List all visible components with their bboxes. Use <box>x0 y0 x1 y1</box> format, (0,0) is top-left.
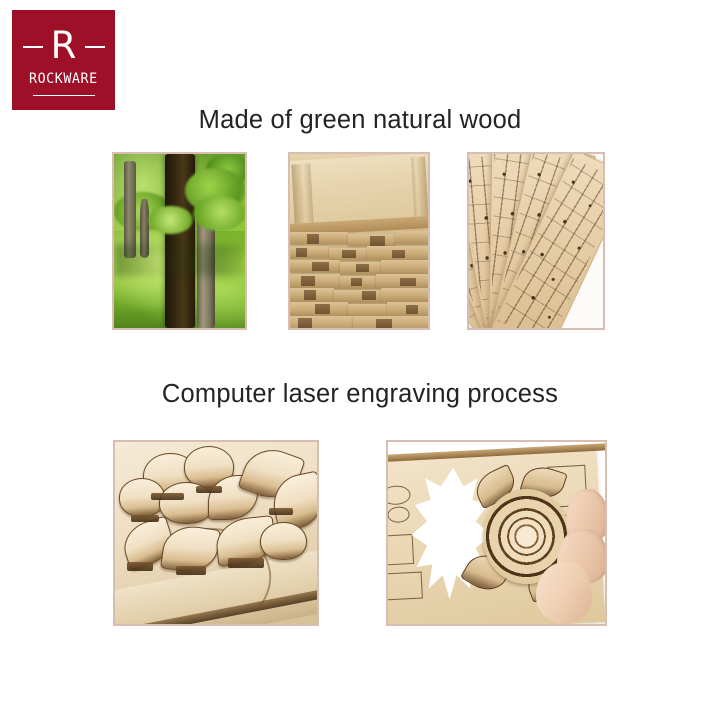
ornament-char-edge <box>269 508 293 515</box>
lumber-plank <box>290 274 340 288</box>
forest-ground-shadow <box>114 244 245 275</box>
lumber-plank-shadow <box>304 290 316 300</box>
ornament-char-edge <box>151 493 183 500</box>
lumber-plank-shadow <box>400 278 415 287</box>
lumber-plank <box>348 304 387 316</box>
lumber-plank-shadow <box>356 264 368 273</box>
photo-hand-content <box>388 442 605 624</box>
lumber-plank <box>395 231 428 245</box>
thumb <box>536 562 592 624</box>
lumber-plank-shadow <box>362 291 376 300</box>
lumber-plank <box>381 288 428 302</box>
rockware-logo: R ROCKWARE <box>12 10 115 110</box>
lumber-plank-shadow <box>342 250 356 259</box>
ornament-char-edge <box>127 562 153 571</box>
lumber-groove <box>291 164 314 224</box>
lumber-plank-shadow <box>406 305 418 314</box>
lumber-plank-shadow <box>298 318 312 328</box>
photo-hand-holding-sheet <box>386 440 607 626</box>
lumber-plank-shadow <box>392 250 404 259</box>
photo-forest-content <box>114 154 245 328</box>
ornament-char-edge <box>196 486 222 493</box>
ornament-char-edge <box>131 515 159 522</box>
logo-rule-left <box>23 46 43 48</box>
engraved-outline <box>388 485 411 506</box>
logo-underline <box>33 95 95 97</box>
logo-letter: R <box>45 27 83 64</box>
lumber-plank-shadow <box>301 276 315 286</box>
ornament-char-edge <box>228 558 264 567</box>
lumber-plank <box>381 260 428 274</box>
photo-forest <box>112 152 247 330</box>
photo-ornament-content <box>115 442 317 624</box>
photo-lumber-content <box>290 154 428 328</box>
lumber-plank-shadow <box>370 236 385 246</box>
engraved-outline <box>388 572 423 600</box>
photo-laser-cut-sheets <box>467 152 605 330</box>
photo-ornament-closeup <box>113 440 319 626</box>
lumber-plank-shadow <box>307 234 319 244</box>
logo-wordmark: ROCKWARE <box>29 71 98 87</box>
product-infographic-page: R ROCKWARE Made of green natural wood <box>0 0 720 720</box>
photo-sheets-content <box>469 154 603 328</box>
forest-foliage <box>148 206 193 234</box>
logo-rule-right <box>85 46 105 48</box>
lumber-plank <box>290 232 348 244</box>
lumber-plank-shadow <box>376 319 393 328</box>
engraved-outline <box>388 534 414 566</box>
section-heading-laser-engraving: Computer laser engraving process <box>0 380 720 409</box>
lumber-plank-shadow <box>312 262 329 271</box>
ornament-char-edge <box>176 566 206 575</box>
lumber-plank-shadow <box>296 248 307 257</box>
lumber-plank-shadow <box>315 304 330 314</box>
forest-foliage <box>193 196 245 231</box>
photo-lumber-stack <box>288 152 430 330</box>
section-heading-natural-wood: Made of green natural wood <box>0 106 720 135</box>
logo-r-mark: R <box>21 24 107 68</box>
engraved-outline <box>388 506 410 523</box>
ornament-petal <box>260 522 306 560</box>
lumber-plank-shadow <box>351 278 362 287</box>
